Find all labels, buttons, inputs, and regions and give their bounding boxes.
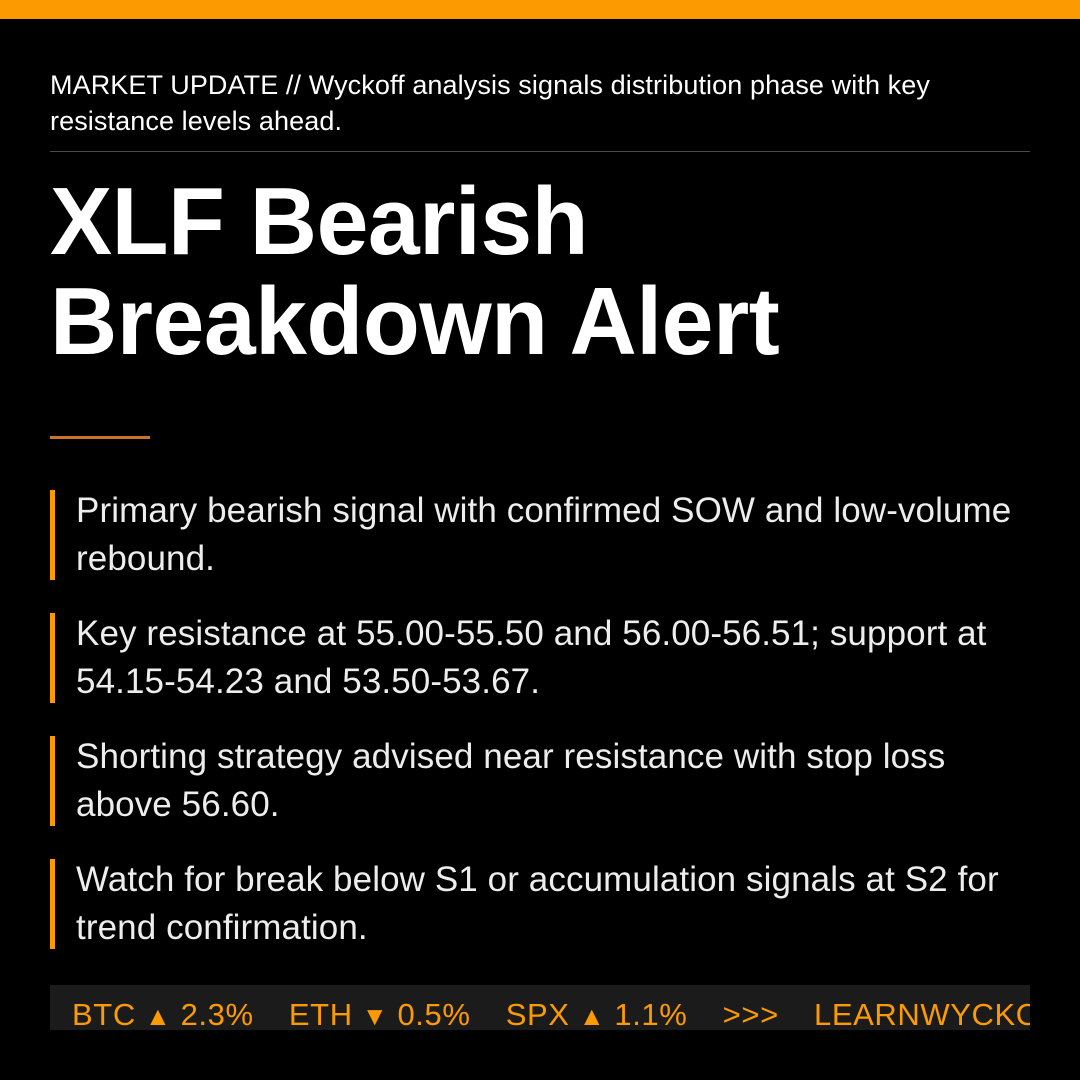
ticker-symbol: BTC — [72, 997, 136, 1030]
list-item: Primary bearish signal with confirmed SO… — [50, 487, 1036, 583]
list-item: Shorting strategy advised near resistanc… — [50, 733, 1036, 829]
accent-rule — [50, 436, 150, 439]
ticker-item-eth: ETH ▼ 0.5% — [289, 997, 480, 1030]
bullet-accent-bar — [50, 859, 55, 949]
market-ticker-bar: BTC ▲ 2.3% ETH ▼ 0.5% SPX ▲ 1.1% >>> LEA… — [50, 985, 1030, 1030]
list-item: Key resistance at 55.00-55.50 and 56.00-… — [50, 610, 1036, 706]
bullet-text: Watch for break below S1 or accumulation… — [76, 856, 1036, 952]
ticker-symbol: SPX — [506, 997, 570, 1030]
triangle-up-icon: ▲ — [145, 1001, 171, 1030]
bullet-accent-bar — [50, 736, 55, 826]
bullet-accent-bar — [50, 490, 55, 580]
market-alert-card: MARKET UPDATE // Wyckoff analysis signal… — [0, 0, 1080, 1080]
list-item: Watch for break below S1 or accumulation… — [50, 856, 1036, 952]
ticker-website[interactable]: LEARNWYCKOFF.COM — [814, 997, 1030, 1030]
triangle-up-icon: ▲ — [579, 1001, 605, 1030]
bullet-text: Key resistance at 55.00-55.50 and 56.00-… — [76, 610, 1036, 706]
ticker-change: 0.5% — [397, 997, 470, 1030]
ticker-change: 2.3% — [181, 997, 254, 1030]
bullet-text: Primary bearish signal with confirmed SO… — [76, 487, 1036, 583]
ticker-item-spx: SPX ▲ 1.1% — [506, 997, 697, 1030]
content-column: MARKET UPDATE // Wyckoff analysis signal… — [50, 19, 1030, 952]
bullet-text: Shorting strategy advised near resistanc… — [76, 733, 1036, 829]
triangle-down-icon: ▼ — [362, 1001, 388, 1030]
header-divider — [50, 151, 1030, 152]
top-accent-bar — [0, 0, 1080, 19]
bullet-accent-bar — [50, 613, 55, 703]
ticker-change: 1.1% — [614, 997, 687, 1030]
bullet-list: Primary bearish signal with confirmed SO… — [50, 487, 1030, 952]
kicker-text: MARKET UPDATE // Wyckoff analysis signal… — [50, 67, 930, 139]
ticker-separator: >>> — [723, 997, 779, 1030]
ticker-item-btc: BTC ▲ 2.3% — [72, 997, 263, 1030]
ticker-symbol: ETH — [289, 997, 353, 1030]
page-title: XLF Bearish Breakdown Alert — [50, 172, 923, 372]
ticker-strip: BTC ▲ 2.3% ETH ▼ 0.5% SPX ▲ 1.1% >>> LEA… — [72, 996, 1030, 1030]
